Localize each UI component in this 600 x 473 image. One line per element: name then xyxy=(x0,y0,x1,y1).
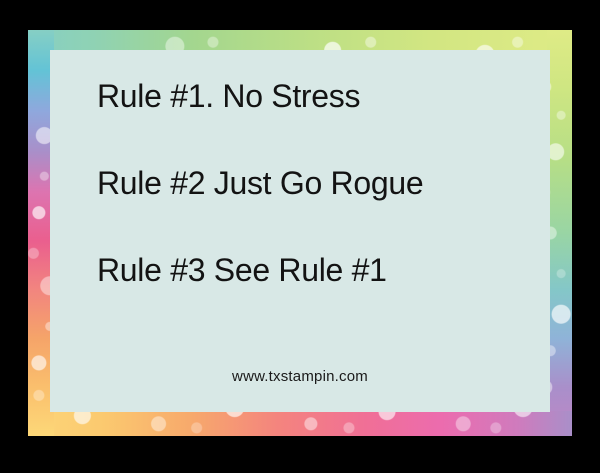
website-url: www.txstampin.com xyxy=(50,368,550,385)
content-panel: Rule #1. No Stress Rule #2 Just Go Rogue… xyxy=(50,50,550,412)
rules-list: Rule #1. No Stress Rule #2 Just Go Rogue… xyxy=(97,80,527,286)
image-canvas: Rule #1. No Stress Rule #2 Just Go Rogue… xyxy=(0,0,600,473)
rule-item-1: Rule #1. No Stress xyxy=(97,80,527,112)
rule-item-3: Rule #3 See Rule #1 xyxy=(97,254,527,286)
rule-item-2: Rule #2 Just Go Rogue xyxy=(97,167,527,199)
